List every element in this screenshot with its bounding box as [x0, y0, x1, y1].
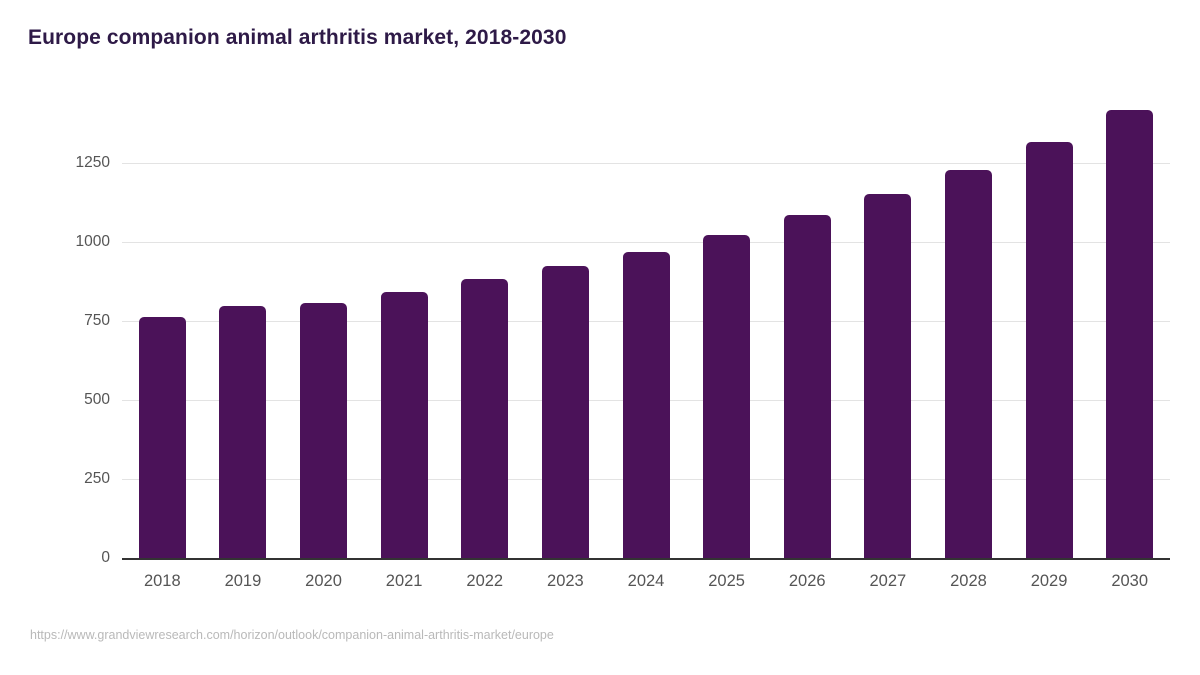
x-axis-line: [122, 558, 1170, 560]
bar[interactable]: [1026, 142, 1073, 558]
x-axis-tick-label: 2019: [225, 572, 262, 591]
bar[interactable]: [461, 279, 508, 558]
bar[interactable]: [300, 303, 347, 558]
x-axis-tick-label: 2030: [1111, 572, 1148, 591]
bars-layer: [122, 163, 1170, 558]
bar[interactable]: [703, 235, 750, 558]
x-axis-tick-label: 2018: [144, 572, 181, 591]
x-axis-tick-label: 2021: [386, 572, 423, 591]
bar[interactable]: [542, 266, 589, 558]
chart-card: Europe companion animal arthritis market…: [0, 0, 1200, 675]
x-axis-tick-label: 2028: [950, 572, 987, 591]
bar[interactable]: [139, 317, 186, 558]
y-axis-tick-label: 250: [30, 470, 110, 488]
bar[interactable]: [623, 252, 670, 558]
x-axis-tick-label: 2020: [305, 572, 342, 591]
chart-title: Europe companion animal arthritis market…: [28, 26, 566, 50]
bar[interactable]: [381, 292, 428, 558]
x-axis-tick-label: 2026: [789, 572, 826, 591]
y-axis-tick-label: 750: [30, 312, 110, 330]
bar[interactable]: [945, 170, 992, 558]
bar[interactable]: [1106, 110, 1153, 558]
source-url-label: https://www.grandviewresearch.com/horizo…: [30, 628, 554, 642]
y-axis-tick-label: 500: [30, 391, 110, 409]
x-axis-tick-label: 2024: [628, 572, 665, 591]
x-axis-tick-label: 2025: [708, 572, 745, 591]
x-axis-tick-label: 2027: [869, 572, 906, 591]
y-axis-tick-label: 0: [30, 549, 110, 567]
x-axis-tick-label: 2029: [1031, 572, 1068, 591]
y-axis-tick-label: 1250: [30, 154, 110, 172]
x-axis-tick-label: 2023: [547, 572, 584, 591]
x-axis-tick-label: 2022: [466, 572, 503, 591]
bar[interactable]: [864, 194, 911, 558]
bar[interactable]: [784, 215, 831, 558]
y-axis-tick-label: 1000: [30, 233, 110, 251]
bar[interactable]: [219, 306, 266, 558]
